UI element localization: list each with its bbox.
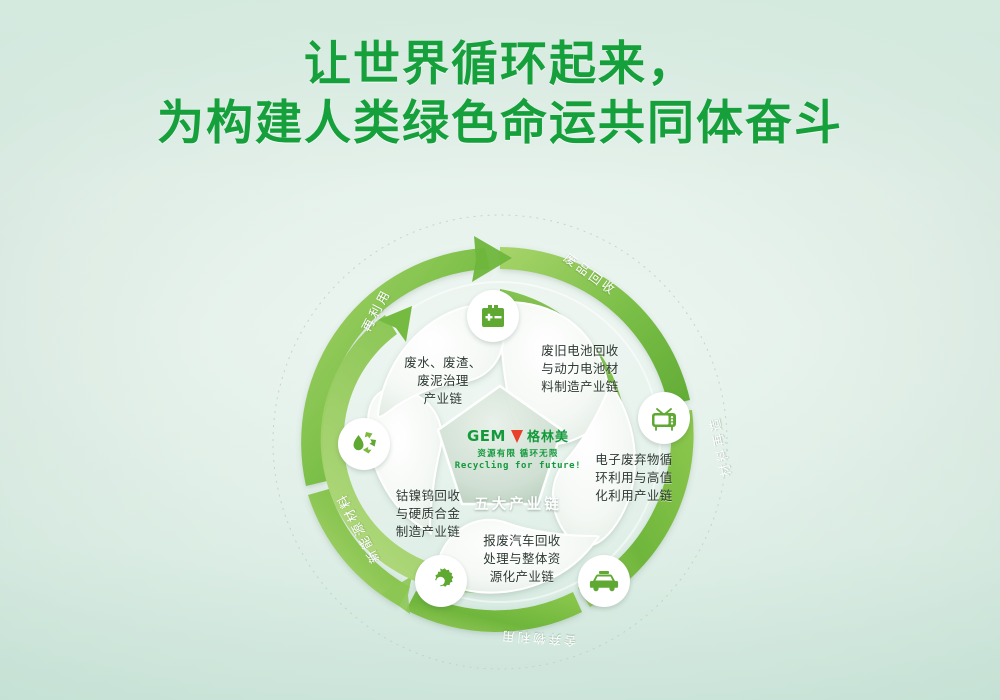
- logo-gem-text: GEM: [467, 429, 506, 444]
- logo-gem-chinese: 格林美: [527, 430, 569, 443]
- headline-line-2: 为构建人类绿色命运共同体奋斗: [0, 93, 1000, 152]
- page-title: 让世界循环起来， 为构建人类绿色命运共同体奋斗: [0, 34, 1000, 152]
- chain-label-battery: 废旧电池回收 与动力电池材 料制造产业链: [505, 343, 655, 396]
- logo-gem-latin: GEM: [467, 429, 506, 444]
- brand-logo: GEM 格林美 资源有限 循环无限 Recycling for future! …: [448, 428, 588, 528]
- center-caption: 五大产业链: [448, 493, 588, 514]
- car-icon: [578, 555, 630, 607]
- logo-slogan-en: Recycling for future!: [448, 461, 588, 471]
- logo-triangle-accent: [511, 430, 523, 443]
- logo-wordmark-row: GEM 格林美: [448, 428, 588, 445]
- water-recycle-icon: [338, 418, 390, 470]
- chain-label-water: 废水、废渣、 废泥治理 产业链: [382, 355, 504, 408]
- headline-line-1: 让世界循环起来，: [0, 34, 1000, 93]
- ring-arrow-head-top: [472, 236, 512, 282]
- tv-icon: [638, 392, 690, 444]
- battery-icon: [467, 290, 519, 342]
- chain-label-ewaste: 电子废弃物循 环利用与高值 化利用产业链: [578, 452, 690, 505]
- logo-slogan-cn: 资源有限 循环无限: [448, 447, 588, 459]
- gear-icon: [415, 555, 467, 607]
